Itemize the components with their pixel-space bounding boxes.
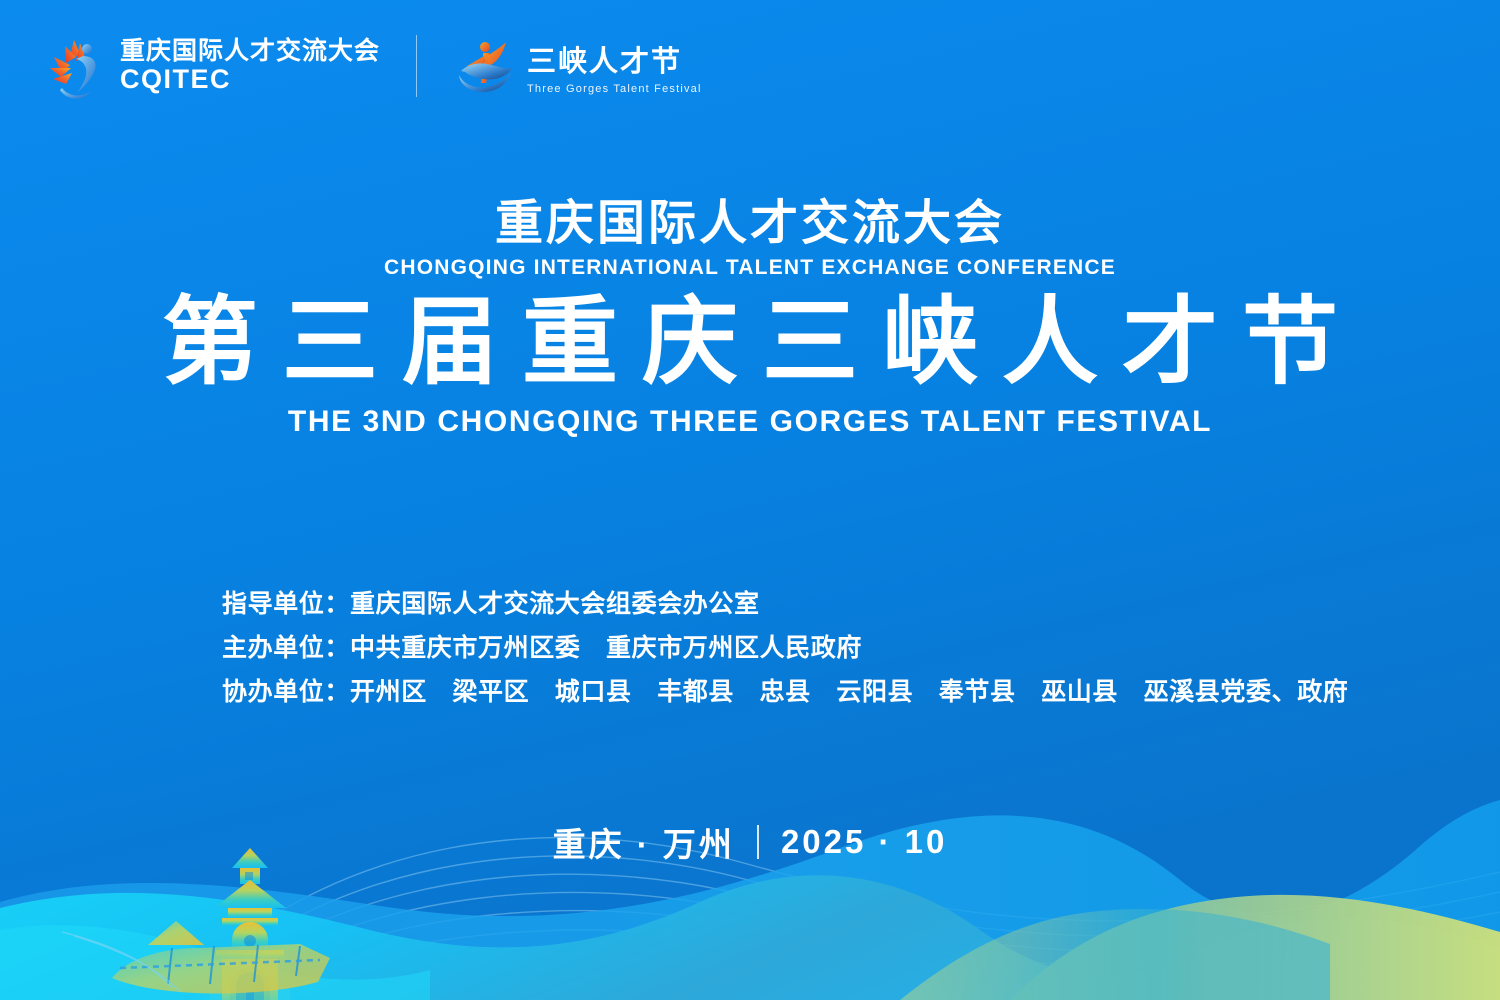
conference-title-cn: 重庆国际人才交流大会 bbox=[0, 196, 1500, 252]
logo-divider bbox=[416, 35, 417, 97]
organizer-host: 主办单位：中共重庆市万州区委 重庆市万州区人民政府 bbox=[222, 626, 1348, 670]
cqitec-logo: 重庆国际人才交流大会 CQITEC bbox=[40, 30, 380, 102]
organizer-cohost: 协办单位：开州区 梁平区 城口县 丰都县 忠县 云阳县 奉节县 巫山县 巫溪县党… bbox=[222, 670, 1348, 714]
conference-title-en: CHONGQING INTERNATIONAL TALENT EXCHANGE … bbox=[0, 256, 1500, 280]
page-title: 第三届重庆三峡人才节 bbox=[0, 288, 1500, 397]
organizer-list: 指导单位：重庆国际人才交流大会组委会办公室 主办单位：中共重庆市万州区委 重庆市… bbox=[222, 582, 1348, 714]
event-date-row: 重庆 · 万州 2025 · 10 bbox=[0, 818, 1500, 866]
page-title-en: THE 3ND CHONGQING THREE GORGES TALENT FE… bbox=[0, 405, 1500, 439]
date-divider bbox=[757, 825, 759, 859]
three-gorges-logo: 三峡人才节 Three Gorges Talent Festival bbox=[453, 37, 702, 95]
header-logos: 重庆国际人才交流大会 CQITEC bbox=[40, 28, 702, 104]
wanzhou-clock-tower-icon bbox=[214, 848, 286, 1000]
title-block: 重庆国际人才交流大会 CHONGQING INTERNATIONAL TALEN… bbox=[0, 196, 1500, 439]
event-location: 重庆 · 万州 bbox=[553, 818, 735, 866]
organizer-guidance: 指导单位：重庆国际人才交流大会组委会办公室 bbox=[222, 582, 1348, 626]
wave-layer-cyan bbox=[0, 875, 1500, 1000]
three-gorges-logo-en: Three Gorges Talent Festival bbox=[527, 83, 702, 95]
three-gorges-figure-logo-icon bbox=[453, 37, 517, 95]
event-date: 2025 · 10 bbox=[781, 823, 947, 861]
three-gorges-logo-cn: 三峡人才节 bbox=[527, 38, 702, 80]
tower-base bbox=[210, 958, 290, 1000]
cqitec-logo-cn: 重庆国际人才交流大会 bbox=[120, 38, 380, 65]
cqitec-bird-logo-icon bbox=[40, 30, 112, 102]
river-boat-icon bbox=[62, 921, 330, 994]
hill-green-right bbox=[1010, 895, 1500, 1000]
poster-canvas: 重庆国际人才交流大会 CQITEC bbox=[0, 0, 1500, 1000]
cqitec-logo-en: CQITEC bbox=[120, 65, 380, 94]
